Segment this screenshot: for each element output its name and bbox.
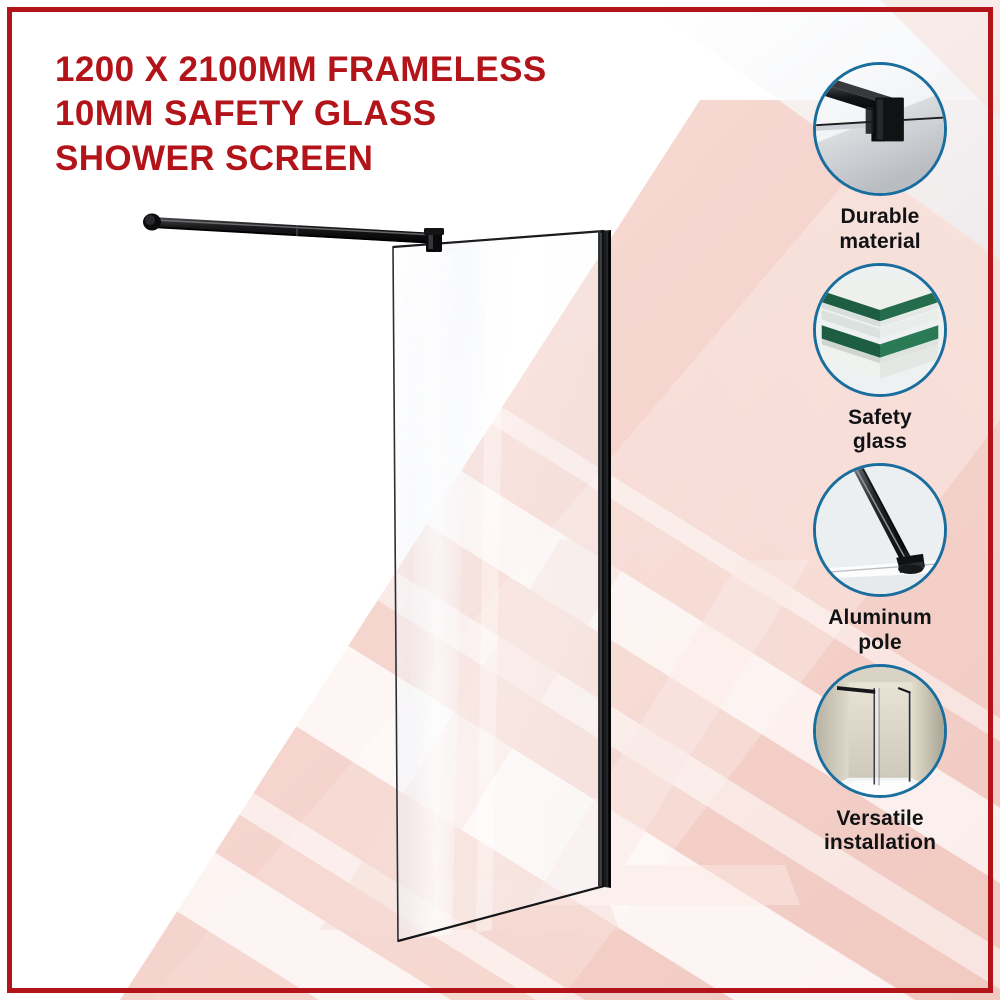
badge-circle-durable-material xyxy=(813,62,947,196)
wall-mount-cap xyxy=(143,214,161,231)
feature-durable-material: Durable material xyxy=(782,62,978,255)
bracket-clamp-photo-icon xyxy=(816,65,944,193)
feature-label-aluminum-pole: Aluminum pole xyxy=(782,606,978,656)
aluminum-support-bar xyxy=(152,217,437,244)
feature-label-versatile-installation: Versatile installation xyxy=(782,807,978,857)
layered-glass-panes-icon xyxy=(816,266,944,394)
feature-label-safety-glass: Safety glass xyxy=(782,406,978,456)
badge-circle-aluminum-pole xyxy=(813,463,947,597)
feature-badge-list: Durable material xyxy=(782,62,978,864)
feature-label-durable-material: Durable material xyxy=(782,205,978,255)
badge-circle-versatile-installation xyxy=(813,664,947,798)
title-line-1: 1200 x 2100MM Frameless xyxy=(55,48,675,92)
tempered-glass-panel xyxy=(393,231,604,941)
feature-versatile-installation: Versatile installation xyxy=(782,664,978,857)
title-line-3: Shower Screen xyxy=(55,137,675,181)
feature-aluminum-pole: Aluminum pole xyxy=(782,463,978,656)
badge-circle-safety-glass xyxy=(813,263,947,397)
feature-safety-glass: Safety glass xyxy=(782,263,978,456)
product-marketing-image: 1200 x 2100MM Frameless 10MM Safety Glas… xyxy=(0,0,1000,1000)
page-title: 1200 x 2100MM Frameless 10MM Safety Glas… xyxy=(55,48,675,181)
shower-enclosure-room-icon xyxy=(816,667,944,795)
diagonal-support-pole-icon xyxy=(816,466,944,594)
title-line-2: 10MM Safety Glass xyxy=(55,92,675,136)
black-side-profile xyxy=(598,230,611,888)
glass-clamp-bracket xyxy=(424,228,444,252)
